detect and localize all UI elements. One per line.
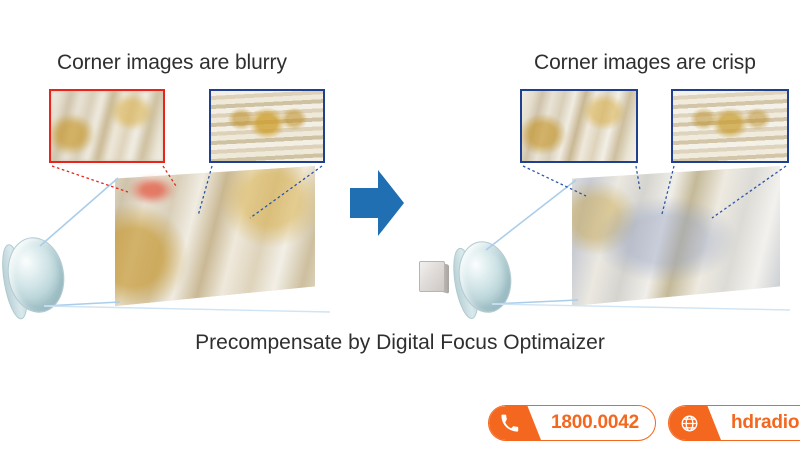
phone-badge[interactable]: 1800.0042 [488,405,656,441]
phone-icon [489,406,541,440]
projected-screen-right [572,166,780,306]
inset-right-crisp-corner [520,89,638,163]
inset-crop-image [673,91,787,161]
website-label: hdradio.vn [721,412,800,434]
screen-image [572,166,780,306]
phone-number-label: 1800.0042 [541,412,639,434]
heading-right-crisp: Corner images are crisp [534,52,756,73]
inset-crop-image [211,91,323,161]
inset-crop-image [522,91,636,161]
inset-crop-image [51,91,163,161]
process-arrow [350,170,404,236]
dfo-panel-face [419,261,445,292]
dfo-panel [419,261,449,293]
heading-left-blurry: Corner images are blurry [57,52,287,73]
inset-left-blurry [49,89,165,163]
inset-right-crisp-center [671,89,789,163]
slide-canvas: Corner images are blurry Corner images a… [0,0,800,450]
inset-left-sharp [209,89,325,163]
caption-text: Precompensate by Digital Focus Optimaize… [0,332,800,353]
contact-badge-bar: 1800.0042 hdradio.vn [488,404,800,442]
projector-lens-left [2,233,70,318]
projected-screen-left [115,166,315,306]
screen-image [115,166,315,306]
projector-lens-right [453,237,517,317]
globe-icon [669,406,721,440]
website-badge[interactable]: hdradio.vn [668,405,800,441]
